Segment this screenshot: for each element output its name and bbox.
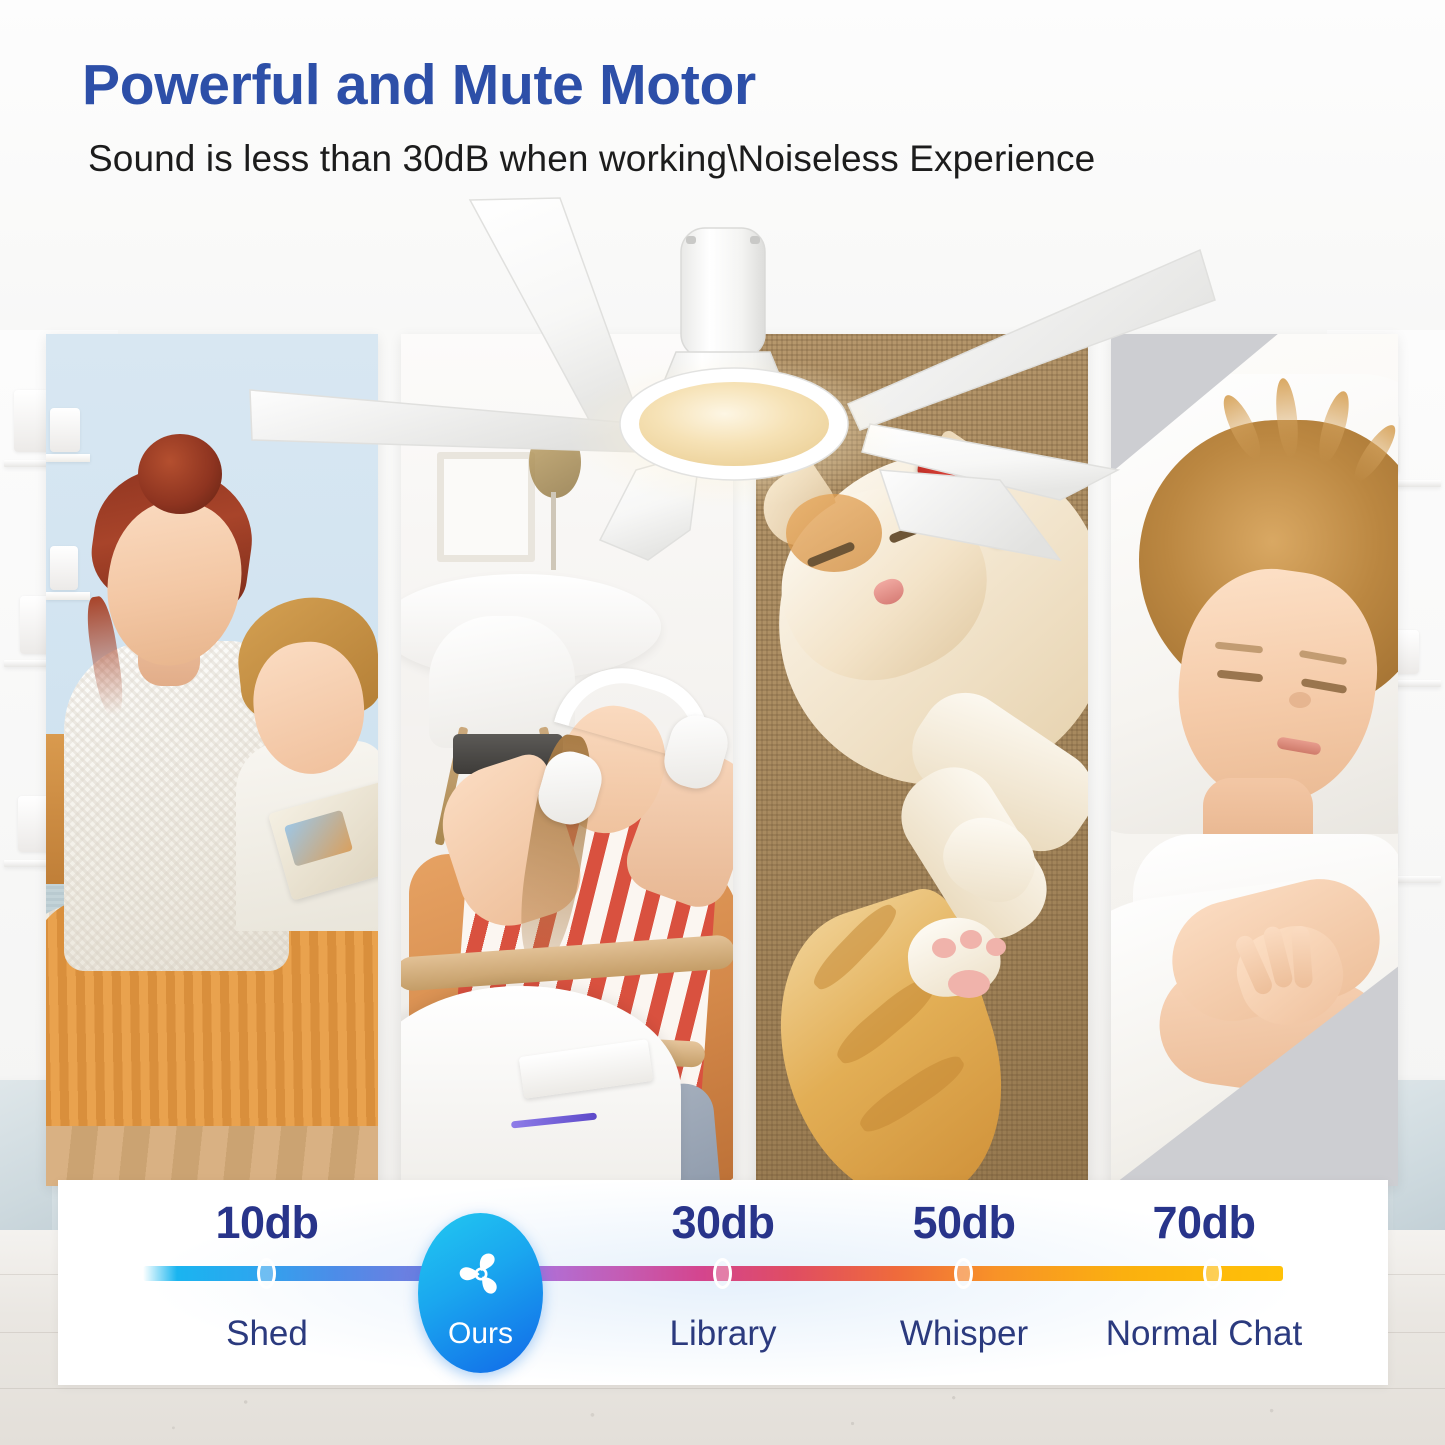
tick-value-30db: 30db (632, 1200, 814, 1245)
scene-panel-woman-with-headphones-relaxing (401, 334, 733, 1186)
tick-label-group-normal-chat: Normal Chat (1068, 1316, 1340, 1351)
tick-label-group-library: Library (632, 1316, 814, 1351)
page-subtitle: Sound is less than 30dB when working\Noi… (88, 138, 1095, 180)
tick-value-50db: 50db (873, 1200, 1055, 1245)
tick-50db: 50db (873, 1200, 1055, 1245)
page-title: Powerful and Mute Motor (82, 52, 756, 118)
noise-comparison-chart: 10db Shed 30db Library 50db Whisper 70db… (58, 1180, 1388, 1385)
tick-value-10db: 10db (176, 1200, 358, 1245)
ours-highlight-badge[interactable]: Ours (418, 1213, 543, 1373)
tick-value-70db: 70db (1113, 1200, 1295, 1245)
tick-10db: 10db (176, 1200, 358, 1245)
tick-label-shed: Shed (176, 1316, 358, 1351)
fan-icon-wrap (418, 1235, 543, 1313)
tick-label-whisper: Whisper (873, 1316, 1055, 1351)
tick-label-group-shed: Shed (176, 1316, 358, 1351)
fan-icon (445, 1238, 517, 1310)
track-left-fade (143, 1266, 177, 1281)
tick-label-library: Library (632, 1316, 814, 1351)
tick-node-30db (713, 1258, 732, 1289)
infographic-canvas: Powerful and Mute Motor Sound is less th… (0, 0, 1445, 1445)
tick-node-10db (257, 1258, 276, 1289)
tick-30db: 30db (632, 1200, 814, 1245)
tick-node-50db (954, 1258, 973, 1289)
scene-panel-sleeping-cat (756, 334, 1088, 1186)
tick-node-70db (1203, 1258, 1222, 1289)
scene-panel-mother-and-daughter-reading (46, 334, 378, 1186)
tick-label-normal-chat: Normal Chat (1068, 1316, 1340, 1351)
tick-70db: 70db (1113, 1200, 1295, 1245)
ours-badge-label: Ours (418, 1317, 543, 1351)
scene-panel-sleeping-child (1111, 334, 1398, 1186)
tick-label-group-whisper: Whisper (873, 1316, 1055, 1351)
scene-collage (46, 334, 1398, 1186)
